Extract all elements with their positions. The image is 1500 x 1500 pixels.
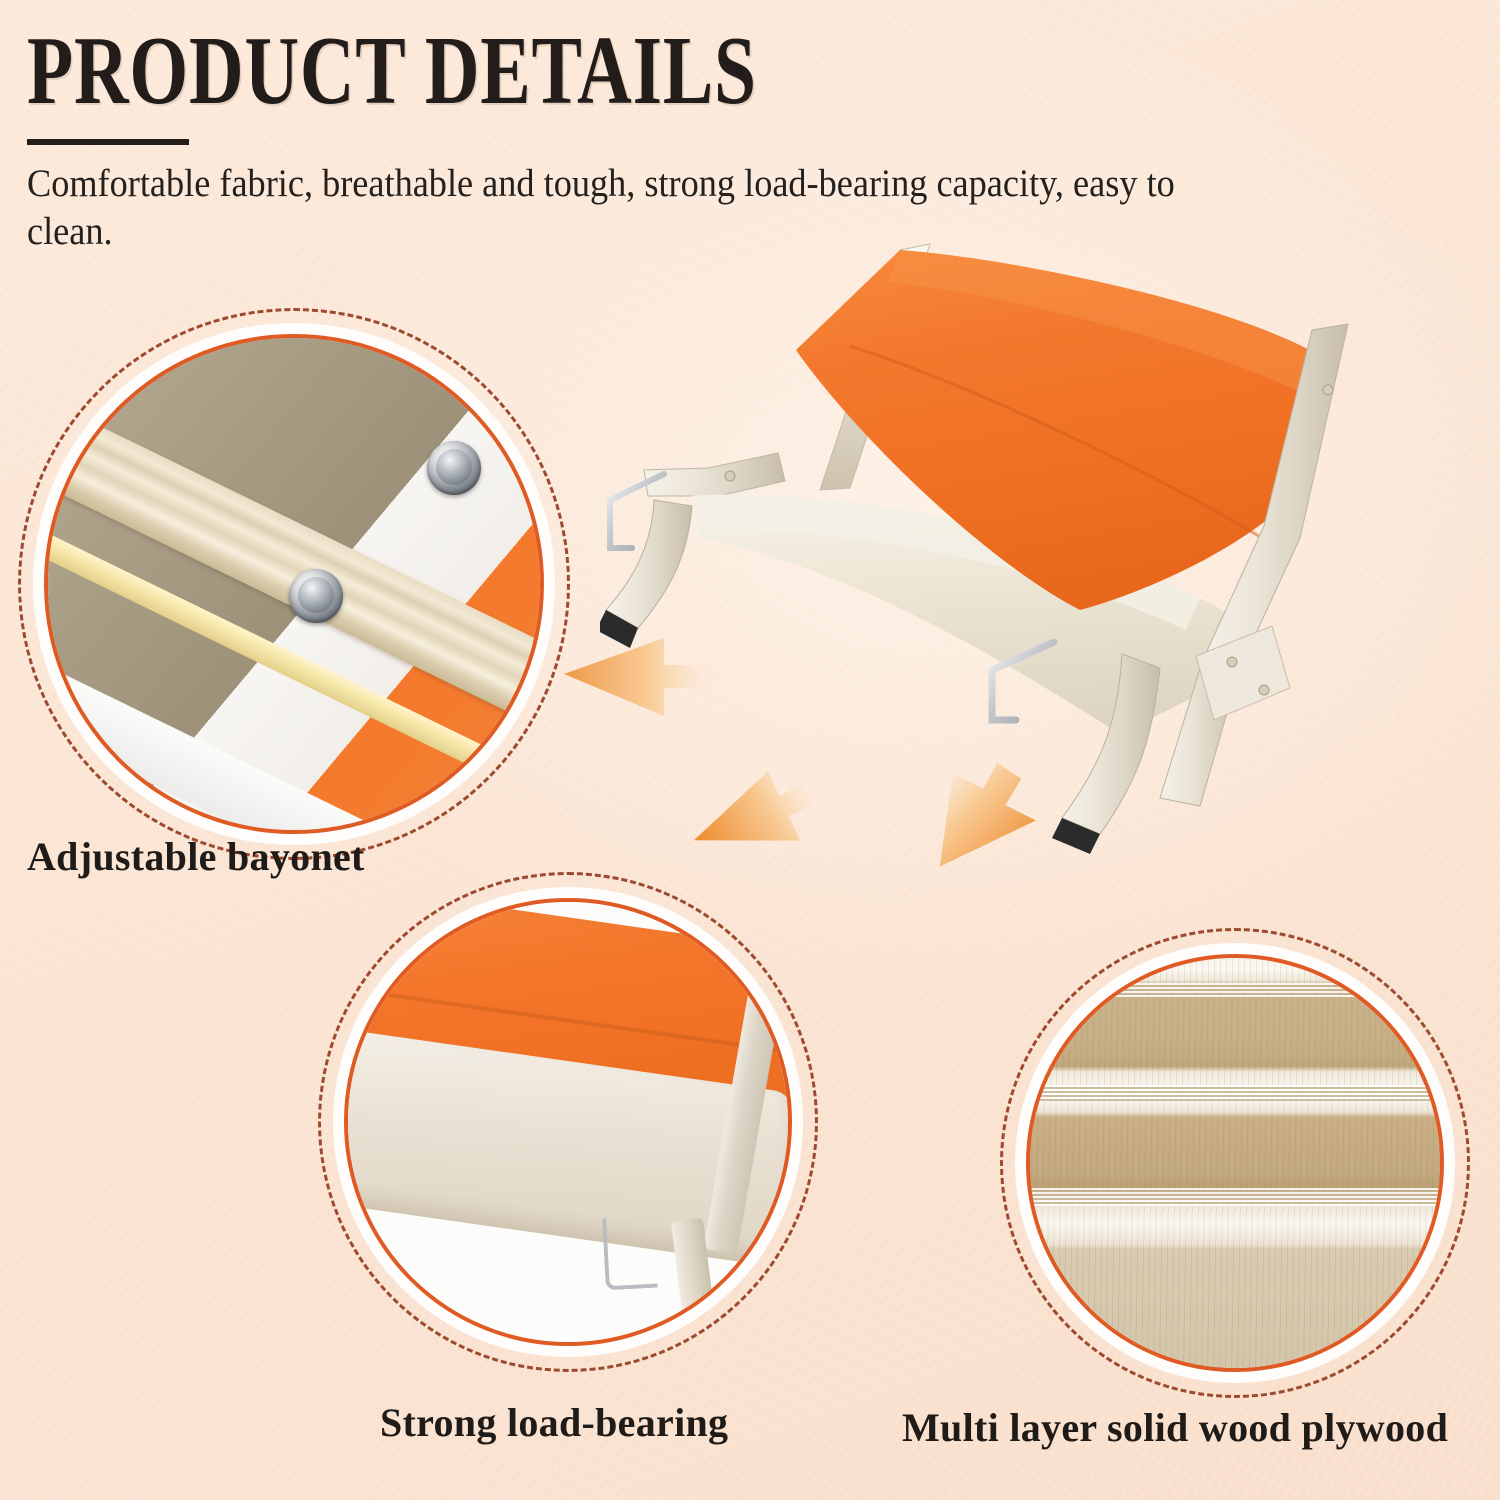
caption-multi-layer-plywood: Multi layer solid wood plywood — [902, 1404, 1448, 1451]
callout-photo-multi-layer-plywood — [1026, 954, 1444, 1372]
callout-strong-load-bearing — [318, 872, 818, 1372]
bayonet-stud-icon — [289, 569, 343, 623]
callout-photo-adjustable-bayonet — [44, 334, 544, 834]
bayonet-stud-icon — [427, 441, 481, 495]
title-underline — [27, 139, 189, 145]
callout-adjustable-bayonet — [18, 308, 570, 860]
page-title: PRODUCT DETAILS — [27, 22, 757, 119]
callout-multi-layer-plywood — [1000, 928, 1470, 1398]
caption-adjustable-bayonet: Adjustable bayonet — [27, 833, 365, 880]
arrow-to-plywood — [926, 756, 1096, 896]
caption-strong-load-bearing: Strong load-bearing — [380, 1399, 728, 1446]
arrow-to-bayonet — [546, 608, 726, 738]
callout-photo-strong-load-bearing — [344, 898, 792, 1346]
metal-hook-icon — [602, 1216, 658, 1291]
